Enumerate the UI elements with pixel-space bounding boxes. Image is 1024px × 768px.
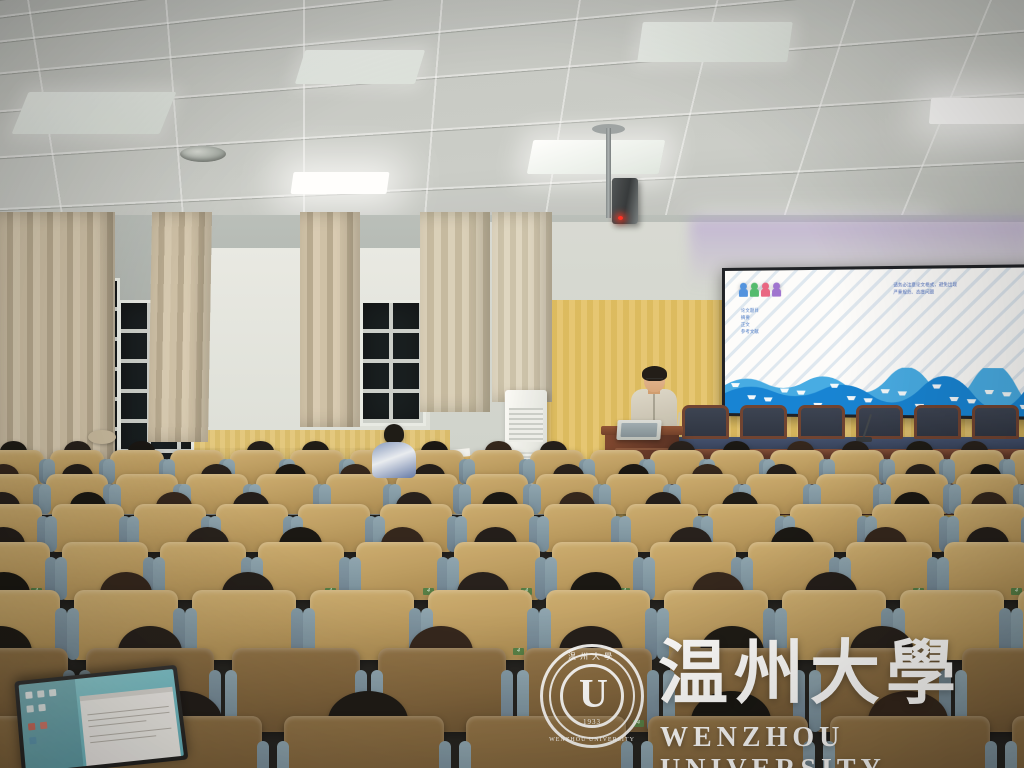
document-text-line <box>90 735 156 743</box>
ceiling-light-panel <box>527 140 666 174</box>
lecture-hall-photo: 论文题目摘要正文参考文献 请务必注意论文格式，避免出现 严重规范、态度问题 <box>0 0 1024 768</box>
speaker-pole <box>606 128 611 218</box>
window-grid <box>363 303 423 423</box>
slide-child-icon <box>750 283 759 297</box>
speaker-led-indicator <box>618 216 623 220</box>
slide-outline-item: 正文 <box>741 321 759 328</box>
seat-armrest <box>439 741 451 768</box>
slide-child-icon <box>761 283 770 297</box>
slide-surface: 论文题目摘要正文参考文献 请务必注意论文格式，避免出现 严重规范、态度问题 <box>725 267 1024 416</box>
laptop-document-window[interactable] <box>79 686 181 766</box>
seat-number-tag: 4 <box>513 648 524 655</box>
glasses-icon <box>646 378 663 383</box>
curtain[interactable] <box>420 212 490 412</box>
laptop-lid <box>14 665 188 768</box>
seat-armrest <box>67 608 79 660</box>
foreground-laptop[interactable] <box>14 665 188 768</box>
seat-number-tag: 4 <box>633 720 644 727</box>
student-torso <box>372 442 416 478</box>
auditorium-seat[interactable]: 4 <box>830 716 990 768</box>
document-text-line <box>88 720 146 727</box>
slide-outline-item: 摘要 <box>741 314 759 321</box>
desktop-icon[interactable] <box>29 737 37 745</box>
seat-armrest <box>657 608 669 660</box>
seat-armrest <box>621 741 633 768</box>
seat-armrest <box>277 741 289 768</box>
desktop-icon[interactable] <box>40 722 48 730</box>
led-presentation-screen[interactable]: 论文题目摘要正文参考文献 请务必注意论文格式，避免出现 严重规范、态度问题 <box>722 264 1024 420</box>
auditorium-seat[interactable]: 4 <box>284 716 444 768</box>
seat-armrest <box>809 670 821 732</box>
desktop-icon[interactable] <box>28 723 36 731</box>
seat-armrest <box>823 741 835 768</box>
seat-armrest <box>257 741 269 768</box>
desktop-icon[interactable] <box>38 704 46 712</box>
slide-child-icon <box>739 283 748 297</box>
seat-armrest <box>803 741 815 768</box>
auditorium-seat[interactable]: 4 <box>1012 716 1024 768</box>
laptop-screen[interactable] <box>19 669 184 768</box>
ceiling-light-panel <box>12 92 177 134</box>
seat-armrest <box>1005 741 1017 768</box>
auditorium-seat[interactable]: 4 <box>466 716 626 768</box>
seat-armrest <box>459 741 471 768</box>
ceiling-light-panel <box>637 22 793 62</box>
seated-student <box>372 424 416 476</box>
seat-armrest <box>985 741 997 768</box>
ceiling-light-panel <box>295 50 425 84</box>
slide-note-text: 请务必注意论文格式，避免出现 严重规范、态度问题 <box>893 281 1021 296</box>
student-head <box>384 424 404 444</box>
seat-armrest <box>641 741 653 768</box>
window <box>360 300 426 426</box>
slide-outline-item: 论文题目 <box>741 307 759 314</box>
ceiling-light-panel <box>929 98 1024 124</box>
desktop-icon[interactable] <box>25 691 33 699</box>
curtain[interactable] <box>492 212 552 402</box>
desktop-icon[interactable] <box>49 689 57 697</box>
slide-note-line: 严重规范、态度问题 <box>893 288 1021 296</box>
curtain[interactable] <box>148 212 212 442</box>
ceiling-speaker-icon <box>180 146 226 162</box>
curtain[interactable] <box>300 212 360 427</box>
slide-outline-item: 参考文献 <box>741 328 759 335</box>
slide-children-icons <box>739 282 781 296</box>
document-text-line <box>89 727 171 737</box>
slide-outline-list: 论文题目摘要正文参考文献 <box>741 307 759 336</box>
desktop-icon[interactable] <box>26 705 34 713</box>
hanging-speaker-icon <box>612 178 638 224</box>
auditorium-seat[interactable]: 4 <box>648 716 808 768</box>
slide-child-icon <box>772 282 781 296</box>
desktop-icon[interactable] <box>37 690 45 698</box>
ceiling-light-panel <box>290 172 389 194</box>
